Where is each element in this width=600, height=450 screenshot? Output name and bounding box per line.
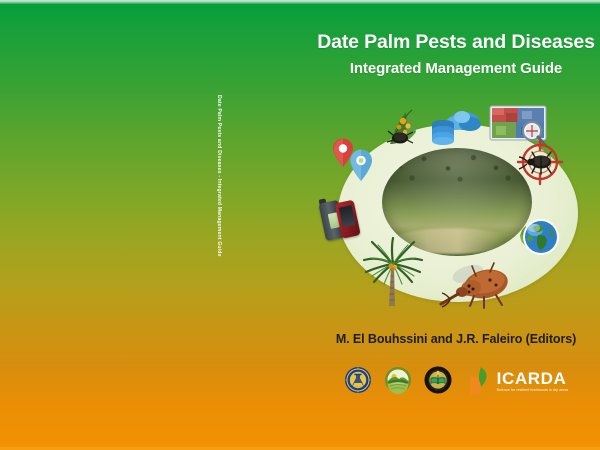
- map-pin-blue-icon: [348, 148, 374, 182]
- icarda-logo[interactable]: ICARDA Science for resilient livelihoods…: [468, 366, 569, 396]
- globe-icon: [516, 212, 562, 258]
- icarda-leaf-icon: [468, 366, 494, 396]
- beetle-crosshair-target-icon: [516, 138, 564, 186]
- front-cover-panel: Date Palm Pests and Diseases Integrated …: [312, 0, 600, 450]
- ipm-collage-illustration: [320, 104, 592, 314]
- back-cover-panel: [0, 0, 288, 450]
- mobile-phone-screen: [339, 205, 356, 227]
- cover-title-block: Date Palm Pests and Diseases Integrated …: [312, 32, 600, 77]
- book-subtitle: Integrated Management Guide: [312, 60, 600, 77]
- spine-title-text: Date Palm Pests and Diseases - Integrate…: [216, 95, 222, 257]
- logo-agricultural-organization[interactable]: [384, 366, 412, 395]
- red-palm-weevil-icon: [438, 254, 524, 312]
- icarda-tagline: Science for resilient livelihoods in dry…: [497, 389, 569, 393]
- book-cover-spread: Date Palm Pests and Diseases - Integrate…: [0, 0, 600, 450]
- publisher-logos-row: ICARDA Science for resilient livelihoods…: [320, 366, 592, 418]
- date-palm-tree-icon: [358, 236, 428, 308]
- pest-insect-icon: [382, 104, 428, 150]
- book-title: Date Palm Pests and Diseases: [312, 32, 600, 53]
- icarda-wordmark: ICARDA: [497, 370, 567, 387]
- database-cloud-icon: [428, 104, 484, 146]
- book-spine: Date Palm Pests and Diseases - Integrate…: [288, 0, 312, 450]
- logo-ministry-agriculture[interactable]: [424, 366, 452, 395]
- logo-research-institute[interactable]: [344, 366, 372, 395]
- editors-credit: M. El Bouhssini and J.R. Faleiro (Editor…: [312, 332, 600, 346]
